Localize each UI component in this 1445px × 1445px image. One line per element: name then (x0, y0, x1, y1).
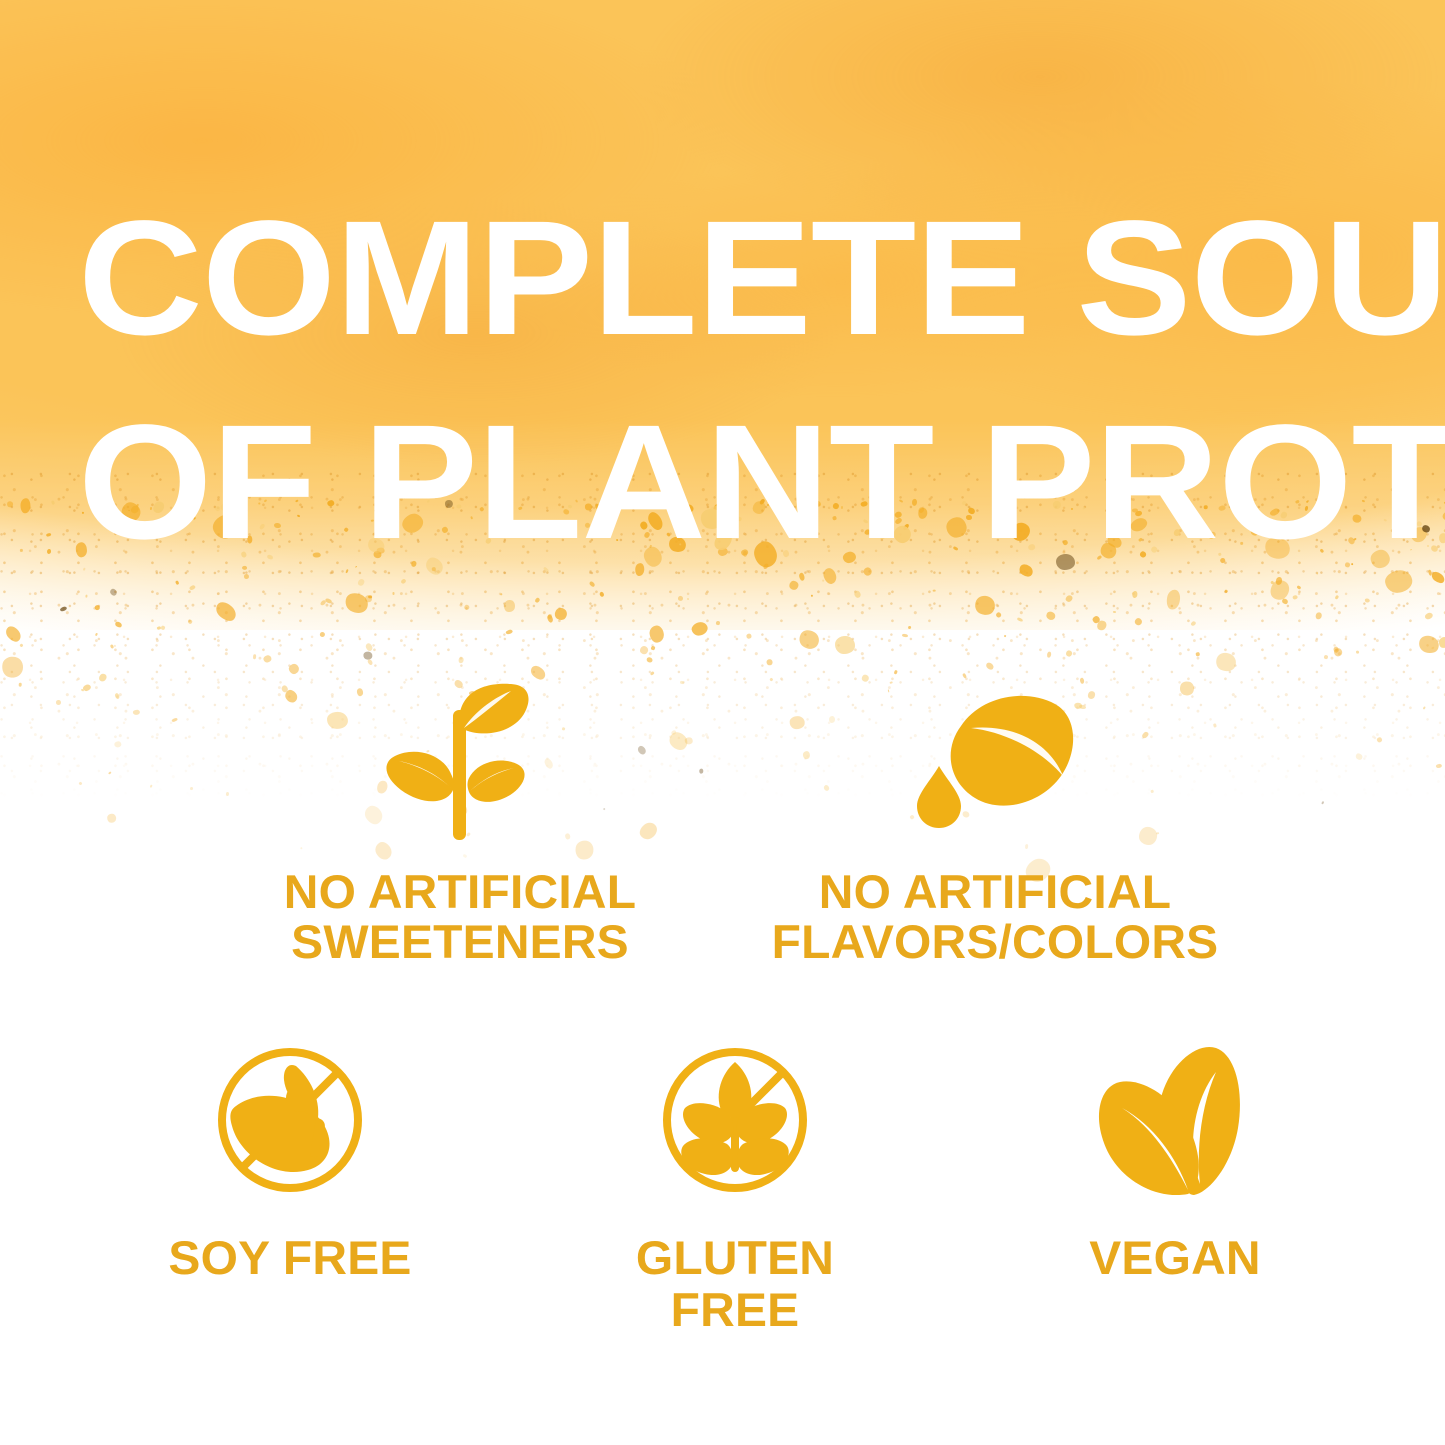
feature-soy-free: SOY FREE (105, 1030, 475, 1284)
feature-label-line-1: GLUTEN (636, 1231, 834, 1284)
feature-label: SOY FREE (101, 1232, 478, 1284)
feature-gluten-free: GLUTEN FREE (570, 1030, 900, 1336)
feature-vegan: VEGAN (990, 1030, 1360, 1284)
feature-label-line-1: SOY FREE (168, 1231, 411, 1284)
feature-label: GLUTEN FREE (567, 1232, 904, 1336)
sprout-icon (250, 680, 670, 840)
feature-label: NO ARTIFICIAL SWEETENERS (246, 867, 674, 967)
headline-line-2: OF PLANT PROTEIN. (78, 380, 1445, 584)
feature-label: NO ARTIFICIAL FLAVORS/COLORS (771, 867, 1220, 967)
no-soy-icon (105, 1030, 475, 1200)
no-gluten-wheat-icon (570, 1030, 900, 1200)
feature-label-line-2: FREE (671, 1283, 800, 1336)
feature-no-artificial-sweeteners: NO ARTIFICIAL SWEETENERS (250, 680, 670, 967)
feature-label-line-1: VEGAN (1089, 1231, 1261, 1284)
headline: COMPLETE SOURCE OF PLANT PROTEIN. (78, 176, 1445, 584)
feature-label-line-1: NO ARTIFICIAL (284, 865, 636, 918)
headline-line-1: COMPLETE SOURCE (78, 176, 1445, 380)
feature-label-line-2: SWEETENERS (291, 915, 629, 968)
product-claims-banner: COMPLETE SOURCE OF PLANT PROTEIN. NO ART… (0, 0, 1445, 1445)
feature-label-line-2: FLAVORS/COLORS (772, 915, 1219, 968)
feature-label: VEGAN (986, 1232, 1363, 1284)
feature-label-line-1: NO ARTIFICIAL (819, 865, 1171, 918)
leaf-droplet-icon (775, 680, 1215, 840)
feature-no-artificial-flavors-colors: NO ARTIFICIAL FLAVORS/COLORS (775, 680, 1215, 967)
two-leaves-icon (990, 1030, 1360, 1200)
